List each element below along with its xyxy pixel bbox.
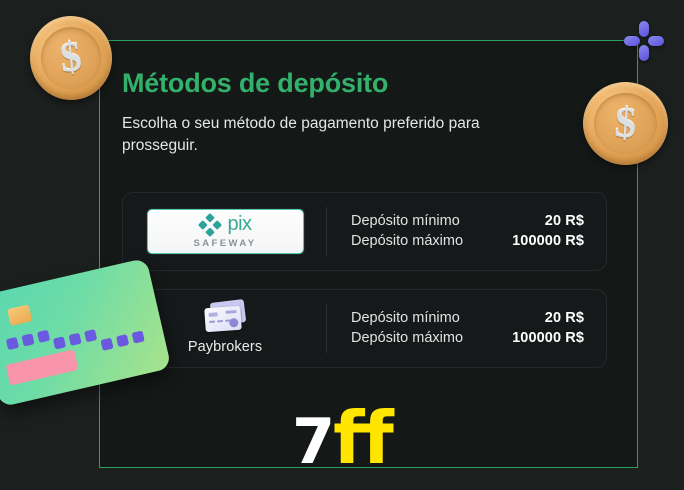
pix-safeway-label: SAFEWAY — [194, 238, 257, 249]
info-row: Depósito máximo 100000 R$ — [351, 231, 584, 251]
min-deposit-value: 20 R$ — [545, 310, 584, 326]
max-deposit-label: Depósito máximo — [351, 330, 463, 346]
plus-bar-right — [648, 36, 664, 46]
credit-card-stack-icon — [203, 301, 247, 333]
card-front-shape — [204, 306, 242, 332]
page-subtitle: Escolha o seu método de pagamento prefer… — [122, 113, 557, 158]
max-deposit-value: 100000 R$ — [512, 233, 584, 249]
paybrokers-deposit-info: Depósito mínimo 20 R$ Depósito máximo 10… — [327, 308, 606, 348]
plus-bar-top — [639, 21, 649, 37]
card-chip-icon — [7, 304, 32, 326]
card-chip — [209, 312, 218, 317]
card-number-group — [100, 330, 144, 350]
info-row: Depósito mínimo 20 R$ — [351, 211, 584, 231]
paybrokers-label: Paybrokers — [188, 339, 262, 355]
pix-wordmark: pix — [227, 214, 251, 234]
pix-deposit-info: Depósito mínimo 20 R$ Depósito máximo 10… — [327, 211, 606, 251]
pix-logo-icon — [198, 213, 222, 237]
max-deposit-value: 100000 R$ — [512, 330, 584, 346]
max-deposit-label: Depósito máximo — [351, 233, 463, 249]
card-brand-mark — [229, 318, 239, 328]
card-stripe — [6, 349, 79, 385]
page-title: Métodos de depósito — [122, 69, 607, 99]
card-number-group — [53, 329, 97, 349]
payment-method-paybrokers[interactable]: Paybrokers Depósito mínimo 20 R$ Depósit… — [122, 289, 607, 368]
card-line — [209, 321, 215, 323]
card-number-dots — [225, 310, 236, 314]
pix-logo-cell: pix SAFEWAY — [123, 193, 327, 270]
payment-methods-list: pix SAFEWAY Depósito mínimo 20 R$ Depósi… — [122, 192, 607, 368]
watermark-part-two: ff — [333, 396, 392, 480]
pix-safeway-button[interactable]: pix SAFEWAY — [147, 209, 304, 254]
card-number-group — [6, 330, 50, 350]
brand-watermark: 7ff — [292, 402, 392, 474]
payment-method-pix[interactable]: pix SAFEWAY Depósito mínimo 20 R$ Depósi… — [122, 192, 607, 271]
coin-dollar-sign: $ — [613, 101, 637, 145]
info-row: Depósito máximo 100000 R$ — [351, 328, 584, 348]
card-line — [217, 320, 223, 322]
info-row: Depósito mínimo 20 R$ — [351, 308, 584, 328]
plus-decoration-icon — [623, 20, 665, 62]
min-deposit-label: Depósito mínimo — [351, 213, 460, 229]
min-deposit-label: Depósito mínimo — [351, 310, 460, 326]
pix-logo-row: pix — [198, 213, 251, 237]
coin-dollar-sign: $ — [58, 36, 83, 80]
plus-bar-bottom — [639, 45, 649, 61]
plus-bar-left — [624, 36, 640, 46]
watermark-part-one: 7 — [292, 405, 333, 478]
min-deposit-value: 20 R$ — [545, 213, 584, 229]
